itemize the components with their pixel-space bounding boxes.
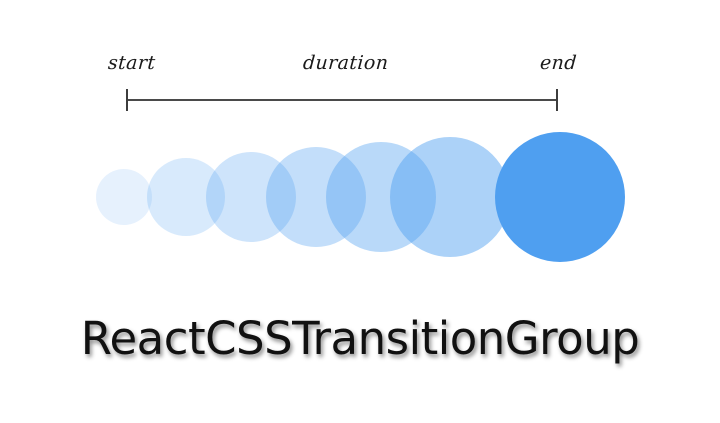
page-title: ReactCSSTransitionGroup [0, 312, 720, 365]
transition-circle [390, 137, 510, 257]
transition-circle [495, 132, 625, 262]
transition-circle [96, 169, 152, 225]
circle-sequence [0, 0, 720, 300]
transition-diagram: start duration end ReactCSSTransitionGro… [0, 0, 720, 423]
